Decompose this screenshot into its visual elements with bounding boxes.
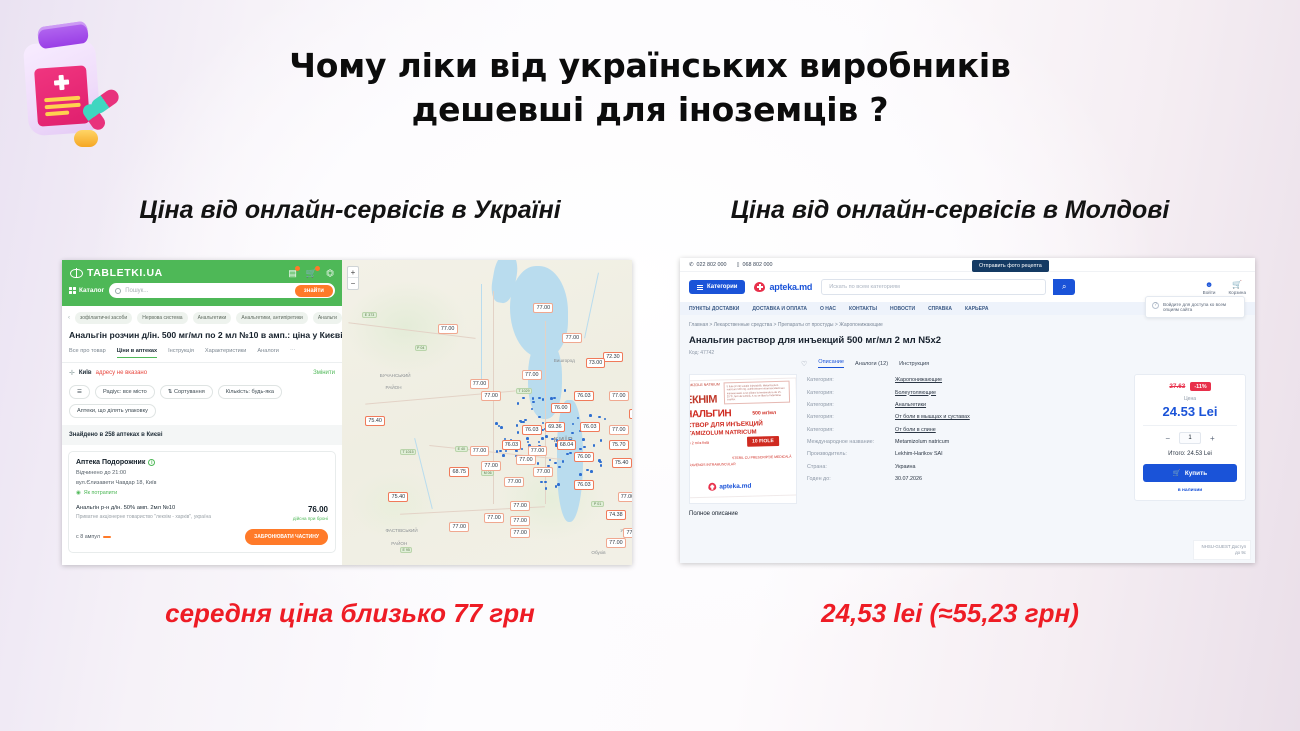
favorite-heart-icon[interactable]: ♡ [801,360,807,368]
ua-route-link[interactable]: ◉ Як потрапити [76,490,328,496]
md-full-description-heading: Полное описание [689,511,1246,517]
md-account-button[interactable]: ☻ Войти [1203,280,1216,295]
md-nav-delivery-points[interactable]: ПУНКТЫ ДОСТАВКИ [689,306,739,312]
mobile-icon: ▯ [737,262,740,268]
map-pharmacy-dot[interactable] [527,441,530,444]
map-price-bubble[interactable]: 77.00 [562,333,582,343]
ua-breadcrumb-item[interactable]: Анальгетики [193,312,232,324]
chevron-left-icon[interactable]: ‹ [68,315,70,321]
md-attribute-value: Lekhim-Harikov SAI [895,451,943,457]
md-attribute-key: Годен до: [807,476,895,482]
map-pharmacy-dot[interactable] [557,483,560,486]
md-search-input[interactable]: Искать по всем категориям [821,279,1046,295]
map-price-bubble[interactable]: 77.00 [609,425,629,435]
map-label-vyshhorod: Вишгород [554,358,575,363]
ua-geo-city: Київ [79,370,92,376]
md-attribute-row: Производитель:Lekhim-Harikov SAI [807,448,1124,460]
map-price-bubble[interactable]: 68.75 [449,467,469,477]
ua-tab-prices[interactable]: Ціни в аптеках [117,348,157,358]
md-buy-label: Купить [1185,470,1207,477]
md-page-body: Главная > Лекарственные средства > Препа… [680,315,1255,563]
map-price-bubble[interactable]: 76.03 [522,425,542,435]
map-price-bubble[interactable]: 77.00 [470,446,490,456]
map-price-bubble[interactable]: 77.00 [522,370,542,380]
map-pharmacy-dot[interactable] [600,439,603,442]
map-pharmacy-dot[interactable] [521,448,524,451]
md-logo-text: apteka.md [769,282,812,292]
map-price-bubble[interactable]: 77.00 [449,522,469,532]
md-attribute-value: Украина [895,464,916,470]
md-wifi-overlay: NHSU-GUEST Доступ до 9с [1193,540,1251,560]
md-tab-instruction[interactable]: Инструкция [899,361,929,367]
md-categories-button[interactable]: Категории [689,280,745,294]
map-price-bubble[interactable]: 68.04 [557,440,577,450]
md-product-code: Код: 47742 [689,350,1246,356]
md-price-label: Цена [1143,396,1237,402]
ua-search-input[interactable]: Пошук... знайти [109,283,335,298]
md-categories-label: Категории [707,284,737,290]
map-price-bubble[interactable]: 77.00 [481,391,501,401]
map-pharmacy-dot[interactable] [516,450,519,453]
ua-results-count: Знайдено в 258 аптеках в Києві [62,425,342,445]
map-pharmacy-dot[interactable] [549,459,552,462]
map-price-bubble[interactable]: 75.40 [365,416,385,426]
map-price-bubble[interactable]: 74.38 [606,510,626,520]
map-price-bubble[interactable]: 75.40 [612,458,632,468]
map-zoom-in-button[interactable]: + [348,267,358,278]
md-stock-status: в наличии [1143,488,1237,493]
map-pharmacy-dot[interactable] [593,444,596,447]
md-attribute-row: Годен до:30.07.2026 [807,473,1124,485]
ua-pharmacy-hours: Відчинено до 21:00 [76,470,328,476]
map-label-district-3: РАЙОН [391,541,407,546]
ua-pharmacy-address: вул.Єлизавети Чавдар 18, Київ [76,480,328,486]
map-pharmacy-dot[interactable] [541,437,544,440]
ua-filters[interactable]: ☰ Радіус: все місто ⇅ Сортування Кількіс… [62,383,342,425]
map-zoom-out-button[interactable]: − [348,278,358,289]
map-price-bubble[interactable]: 77.00 [438,324,458,334]
heart-cross-icon [708,483,716,491]
map-price-bubble[interactable]: 77.00 [470,379,490,389]
map-pharmacy-dot[interactable] [542,422,545,425]
map-price-bubble[interactable]: 76.03 [574,391,594,401]
map-pharmacy-dot[interactable] [522,397,525,400]
ua-pharmacy-card[interactable]: Аптека Подорожник i Відчинено до 21:00 в… [68,451,336,553]
user-icon[interactable]: ⏣ [326,268,334,279]
map-price-bubble[interactable]: 77.00 [533,467,553,477]
ua-filter-radius[interactable]: Радіус: все місто [95,385,155,399]
map-price-bubble[interactable]: 77.00 [504,477,524,487]
md-old-price: 27.63 [1169,383,1185,390]
subtitle-left: Ціна від онлайн-сервісів в Україні [55,196,645,225]
md-total-price: Итого: 24.53 Lei [1143,451,1237,457]
map-label-district-2: РАЙОН [386,385,402,390]
md-nav-contacts[interactable]: КОНТАКТЫ [849,306,877,312]
map-price-bubble[interactable]: 72.30 [603,352,623,362]
md-nav-help[interactable]: СПРАВКА [928,306,952,312]
map-pharmacy-dot[interactable] [571,432,574,435]
md-cart-label: Корзина [1229,290,1247,295]
pkg-watermark: apteka.md [708,482,751,491]
map-price-bubble[interactable]: 77.00 [516,455,536,465]
map-pharmacy-dot[interactable] [538,441,541,444]
ua-pharmacy-name-text: Аптека Подорожник [76,459,145,466]
ua-product-title: Анальгін розчин д/ін. 500 мг/мл по 2 мл … [62,328,342,341]
md-topbar: ✆ 022 802 000 ▯ 068 802 000 [680,258,1255,272]
md-attribute-value[interactable]: Жаропонижающие [895,377,942,383]
map-pharmacy-dot[interactable] [517,431,520,434]
md-login-tooltip: ? Войдите для доступа ко всем опциям сай… [1145,296,1245,318]
search-icon: ⌕ [1062,282,1066,292]
md-qty-increase-button[interactable]: + [1210,434,1215,443]
map-zoom-controls[interactable]: + − [347,266,359,290]
md-nav-career[interactable]: КАРЬЕРА [965,306,988,312]
map-pharmacy-dot[interactable] [583,446,586,449]
map-pharmacy-dot[interactable] [537,462,540,465]
map-pharmacy-dot[interactable] [526,437,529,440]
analgin-package: METAMIZOLE NATRIUM ЛЕКHIM 5 fiole (2 ml)… [689,377,797,498]
ua-breadcrumb-item[interactable]: Анальгетики, антипіретики [236,312,307,324]
md-product-title: Анальгин раствор для инъекций 500 мг/мл … [689,335,1246,346]
md-search-button[interactable]: ⌕ [1053,279,1075,295]
map-price-bubble[interactable]: 77.00 [618,492,633,502]
ua-item-price-note: дійсна при броні [293,516,328,521]
map-pharmacy-dot[interactable] [532,401,535,404]
map-price-bubble[interactable]: 77.00 [510,516,530,526]
md-quantity-stepper[interactable]: − 1 + [1143,432,1237,444]
screenshot-apteka-md: ✆ 022 802 000 ▯ 068 802 000 Отправить фо… [680,258,1255,563]
map-pharmacy-dot[interactable] [586,469,589,472]
map-price-bubble[interactable]: 76.03 [580,422,600,432]
question-mark-icon: ? [1152,302,1159,309]
md-attribute-value[interactable]: От боли в спине [895,427,936,433]
pkg-brand: ЛЕКHIM [689,394,717,407]
md-breadcrumb[interactable]: Главная > Лекарственные средства > Препа… [689,322,1246,328]
pkg-subtitle: РАСТВОР ДЛЯ ИНЪЕКЦИЙ [689,420,763,429]
pkg-watermark-text: apteka.md [719,482,751,490]
map-price-bubble[interactable]: 76.03 [574,480,594,490]
md-attribute-key: Международное название: [807,439,895,445]
map-price-bubble[interactable]: 77.00 [510,501,530,511]
md-discount-badge: -11% [1190,382,1210,391]
md-nav-about[interactable]: О НАС [820,306,836,312]
map-pharmacy-dot[interactable] [540,481,543,484]
map-pharmacy-dot[interactable] [545,435,548,438]
pkg-volume: cite 2 ml в fiolă [689,441,709,446]
location-pin-icon: ✛ [69,369,75,377]
map-pharmacy-dot[interactable] [545,487,548,490]
md-buy-button[interactable]: 🛒 Купить [1143,464,1237,482]
ua-catalog-label: Каталог [79,287,104,294]
md-attribute-key: Производитель: [807,451,895,457]
ua-tab-analogs[interactable]: Аналоги [257,348,279,358]
ua-search-placeholder: Пошук... [125,288,295,294]
map-price-bubble[interactable]: 76.00 [574,452,594,462]
ua-filter-split-pack[interactable]: Аптеки, що ділять упаковку [69,404,156,418]
ua-route-label: Як потрапити [84,490,117,496]
md-phone-1[interactable]: ✆ 022 802 000 [689,262,727,268]
ua-geo-note[interactable]: адресу не вказано [96,370,147,376]
map-pharmacy-dot[interactable] [564,389,567,392]
md-attribute-row: Категория:Жаропонижающие [807,374,1124,386]
ua-tab-all[interactable]: Все про товар [69,348,106,358]
page-title: Чому ліки від українських виробників деш… [0,44,1300,131]
ua-filter-icon-button[interactable]: ☰ [69,385,90,399]
map-label-bucha-district: БУЧАНСЬКИЙ [380,373,411,378]
tablet-icon [74,130,98,147]
md-tab-analogs[interactable]: Аналоги (12) [855,361,888,367]
map-price-bubble[interactable]: 77.00 [533,303,553,313]
map-pharmacy-dot[interactable] [598,416,601,419]
pkg-route-note: INTRAVENOS INTRAMUSCULAR [689,462,736,468]
user-icon: ☻ [1203,280,1216,289]
screenshot-tabletki-ua: TABLETKI.UA ▤ 🛒 ⏣ Каталог Пошук... знайт… [62,260,632,565]
ua-pharmacy-name[interactable]: Аптека Подорожник i [76,459,328,466]
map-pharmacy-dot[interactable] [502,454,505,457]
burger-icon [697,285,703,290]
ua-geo-row[interactable]: ✛ Київ адресу не вказано Змінити [62,363,342,383]
map-pharmacy-dot[interactable] [544,481,547,484]
ua-geo-change-link[interactable]: Змінити [313,370,335,376]
heart-cross-icon [754,282,765,292]
md-attribute-key: Категория: [807,427,895,433]
phone-icon: ✆ [689,262,694,268]
md-cart-button[interactable]: 🛒 Корзина [1229,280,1247,295]
ua-item-price: 76.00 [293,505,328,514]
md-attribute-value: 30.07.2026 [895,476,922,482]
title-line-2: дешевші для іноземців ? [0,88,1300,132]
map-pharmacy-dot[interactable] [582,438,585,441]
md-send-prescription-button[interactable]: Отправить фото рецепта [972,260,1049,272]
map-label-obukhiv: Обухів [591,550,605,555]
ua-breadcrumb-item[interactable]: зофілактичні засоби [75,312,132,324]
map-price-bubble[interactable]: 75.40 [388,492,408,502]
map-pharmacy-dot[interactable] [598,459,601,462]
title-line-1: Чому ліки від українських виробників [0,44,1300,88]
md-tooltip-text: Войдите для доступа ко всем опциям сайта [1163,302,1238,312]
pkg-name: АНАЛЬГИН [689,408,731,420]
md-attribute-value[interactable]: От боли в мышцах и суставах [895,414,970,420]
md-tabs[interactable]: ♡ Описание Аналоги (12) Инструкция [689,359,1246,368]
ua-book-button[interactable]: ЗАБРОНЮВАТИ ЧАСТИНУ [245,529,328,545]
map-price-bubble[interactable]: 77.00 [510,528,530,538]
pkg-insert-text: 5 fiole (2 ml) soluție injectabilă. Meta… [724,381,791,405]
md-nav-news[interactable]: НОВОСТИ [890,306,915,312]
map-pharmacy-dot[interactable] [589,414,592,417]
map-pharmacy-dot[interactable] [550,397,553,400]
pkg-fiole-count: 10 FIOLE [747,436,779,447]
map-price-bubble[interactable]: 73.00 [586,358,606,368]
ua-amp-note: с 8 ампул [76,534,111,540]
map-pharmacy-dot[interactable] [538,416,541,419]
map-pharmacy-dot[interactable] [500,426,503,429]
cart-icon: 🛒 [1229,280,1247,289]
map-price-bubble[interactable]: 77.00 [481,461,501,471]
md-attribute-key: Категория: [807,377,895,383]
cart-icon[interactable]: 🛒 [306,268,317,279]
ua-tabs[interactable]: Все про товар Ціни в аптеках Інструкція … [62,341,342,358]
ua-tab-instruction[interactable]: Інструкція [168,348,194,358]
md-attribute-row: Страна:Украина [807,461,1124,473]
ua-map[interactable]: + − КИЇВ БУЧАНСЬКИЙ РАЙОН ФАСТІВСЬКИЙ РА… [342,260,632,565]
ua-filter-quantity[interactable]: Кількість: будь-яка [218,385,282,399]
subtitle-right: Ціна від онлайн-сервісів в Молдові [655,196,1245,225]
map-pharmacy-dot[interactable] [554,462,557,465]
tabletki-logo-icon [70,269,83,278]
md-product-image[interactable]: METAMIZOLE NATRIUM ЛЕКHIM 5 fiole (2 ml)… [689,374,797,504]
caption-right-price: 24,53 lei (≈55,23 грн) [655,598,1245,629]
md-attribute-key: Страна: [807,464,895,470]
cart-icon: 🛒 [1173,469,1181,477]
md-attributes-table: Категория:ЖаропонижающиеКатегория:Болеут… [807,374,1124,504]
ua-breadcrumb[interactable]: ‹ зофілактичні засоби Нервова система Ан… [62,306,342,328]
md-current-price: 24.53 Lei [1143,404,1237,419]
md-attribute-key: Категория: [807,402,895,408]
caption-left-price: середня ціна близько 77 грн [55,598,645,629]
map-pharmacy-dot[interactable] [542,398,545,401]
pkg-dose: 500 мг/мл [752,410,776,417]
map-price-bubble[interactable]: 73.00 [629,409,632,419]
map-pharmacy-dot[interactable] [600,464,603,467]
md-attribute-key: Категория: [807,414,895,420]
map-pharmacy-dot[interactable] [551,438,554,441]
map-pharmacy-dot[interactable] [590,470,593,473]
amp-bar-icon [103,536,111,539]
map-price-bubble[interactable]: 77.00 [623,528,632,538]
map-pharmacy-dot[interactable] [516,424,519,427]
ua-brand: TABLETKI.UA [87,267,163,279]
ua-tab-more-icon[interactable]: ⋯ [290,348,296,358]
grid-icon [69,287,76,294]
md-attribute-value[interactable]: Анальгетики [895,402,926,408]
route-icon: ◉ [76,490,81,496]
map-price-bubble[interactable]: 77.00 [484,513,504,523]
map-pharmacy-dot[interactable] [517,402,520,405]
map-price-bubble[interactable]: 76.00 [551,403,571,413]
ua-header: TABLETKI.UA ▤ 🛒 ⏣ Каталог Пошук... знайт… [62,260,342,306]
md-price-panel: 27.63 -11% Цена 24.53 Lei − 1 + Итого: 2… [1134,374,1246,501]
map-pharmacy-dot[interactable] [538,397,541,400]
md-attribute-row: Категория:Болеутоляющие [807,386,1124,398]
map-price-bubble[interactable]: 76.03 [502,440,522,450]
ua-tab-specs[interactable]: Характеристики [205,348,246,358]
md-attribute-row: Категория:Анальгетики [807,399,1124,411]
map-pharmacy-dot[interactable] [541,429,544,432]
md-phone-2[interactable]: ▯ 068 802 000 [737,262,773,268]
md-attribute-row: Категория:От боли в мышцах и суставах [807,411,1124,423]
md-search-placeholder: Искать по всем категориям [829,284,900,290]
map-price-bubble[interactable]: 77.00 [609,391,629,401]
md-qty-decrease-button[interactable]: − [1165,434,1170,443]
map-price-bubble[interactable]: 75.70 [609,440,629,450]
md-attribute-row: Международное название:Metamizolum natri… [807,436,1124,448]
md-nav-delivery-payment[interactable]: ДОСТАВКА И ОПЛАТА [752,306,807,312]
ua-breadcrumb-item[interactable]: Нервова система [137,312,187,324]
map-pharmacy-dot[interactable] [604,418,607,421]
pkg-top-left: METAMIZOLE NATRIUM [689,382,720,388]
map-price-bubble[interactable]: 69.36 [545,422,565,432]
md-attribute-value: Metamizolum natricum [895,439,949,445]
map-label-fastiv-district: ФАСТІВСЬКИЙ [386,528,418,533]
md-tab-description[interactable]: Описание [818,359,844,368]
md-qty-value[interactable]: 1 [1179,432,1201,444]
md-attribute-row: Категория:От боли в спине [807,424,1124,436]
ua-breadcrumb-item[interactable]: Анальги [313,312,342,324]
ua-panel: TABLETKI.UA ▤ 🛒 ⏣ Каталог Пошук... знайт… [62,260,342,565]
ua-search-button[interactable]: знайти [295,285,333,297]
search-icon [115,288,121,294]
ua-filter-sort[interactable]: ⇅ Сортування [160,385,213,399]
map-pharmacy-dot[interactable] [579,473,582,476]
info-icon[interactable]: i [148,459,155,466]
md-attribute-value[interactable]: Болеутоляющие [895,390,936,396]
ua-catalog-button[interactable]: Каталог [69,287,104,294]
compare-icon[interactable]: ▤ [288,268,297,279]
ua-item-name: Анальгін р-н д/ін. 50% амп. 2мл №10 [76,505,211,511]
pkg-sterile-note: STERIL CU PRESCRIPȚIE MEDICALĂ [732,455,792,461]
md-attribute-key: Категория: [807,390,895,396]
md-account-label: Войти [1203,290,1216,295]
ua-item-maker: Приватне акціонерне товариство "лекхім -… [76,514,211,520]
map-price-bubble[interactable]: 77.00 [606,538,626,548]
apteka-md-logo[interactable]: apteka.md [754,282,812,292]
